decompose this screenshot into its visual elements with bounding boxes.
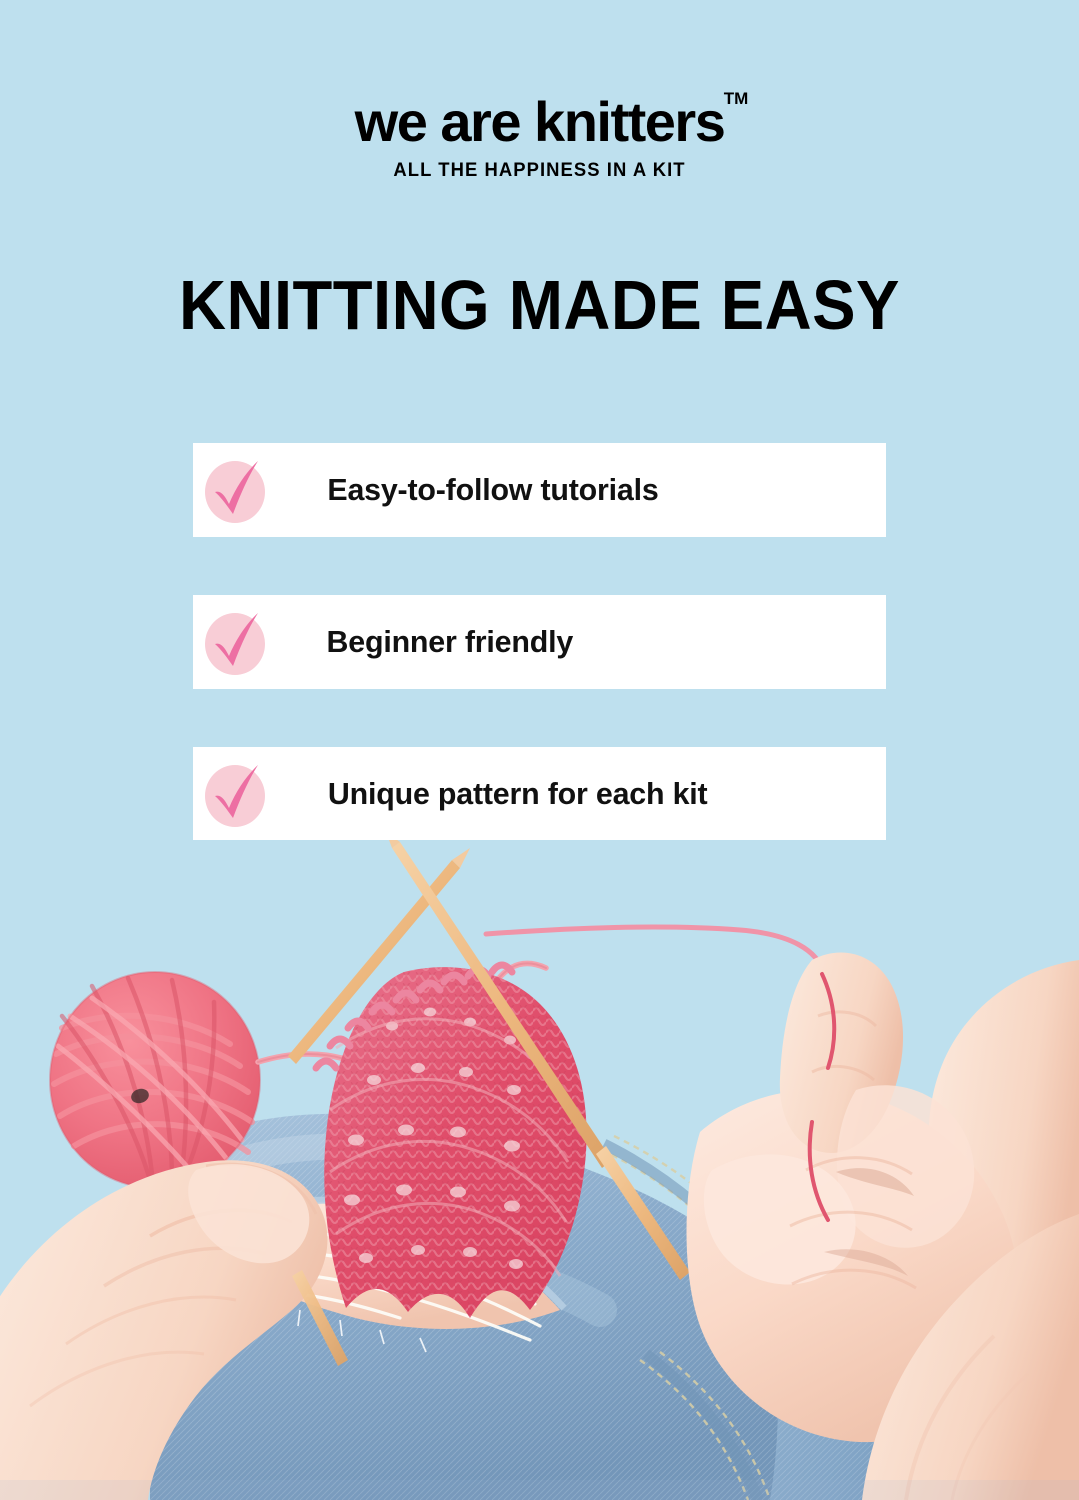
check-icon [193, 747, 279, 841]
trademark-symbol: TM [724, 90, 749, 107]
feature-card: Easy-to-follow tutorials [193, 443, 886, 537]
feature-label: Unique pattern for each kit [328, 776, 708, 812]
poster-canvas: we are knittersTM ALL THE HAPPINESS IN A… [0, 0, 1079, 1500]
feature-card: Beginner friendly [193, 595, 886, 689]
check-icon [193, 443, 279, 537]
feature-card: Unique pattern for each kit [193, 747, 886, 841]
feature-label: Beginner friendly [327, 624, 574, 660]
knitting-photo [0, 840, 1079, 1500]
brand-block: we are knittersTM ALL THE HAPPINESS IN A… [0, 92, 1079, 182]
page-title: KNITTING MADE EASY [38, 268, 1041, 342]
feature-label: Easy-to-follow tutorials [327, 472, 658, 508]
check-icon [193, 595, 279, 689]
brand-logo: we are knittersTM [355, 92, 725, 152]
brand-tagline: ALL THE HAPPINESS IN A KIT [16, 160, 1063, 182]
feature-list: Easy-to-follow tutorials Beginner friend… [193, 443, 886, 899]
brand-logo-text: we are knitters [355, 90, 725, 153]
